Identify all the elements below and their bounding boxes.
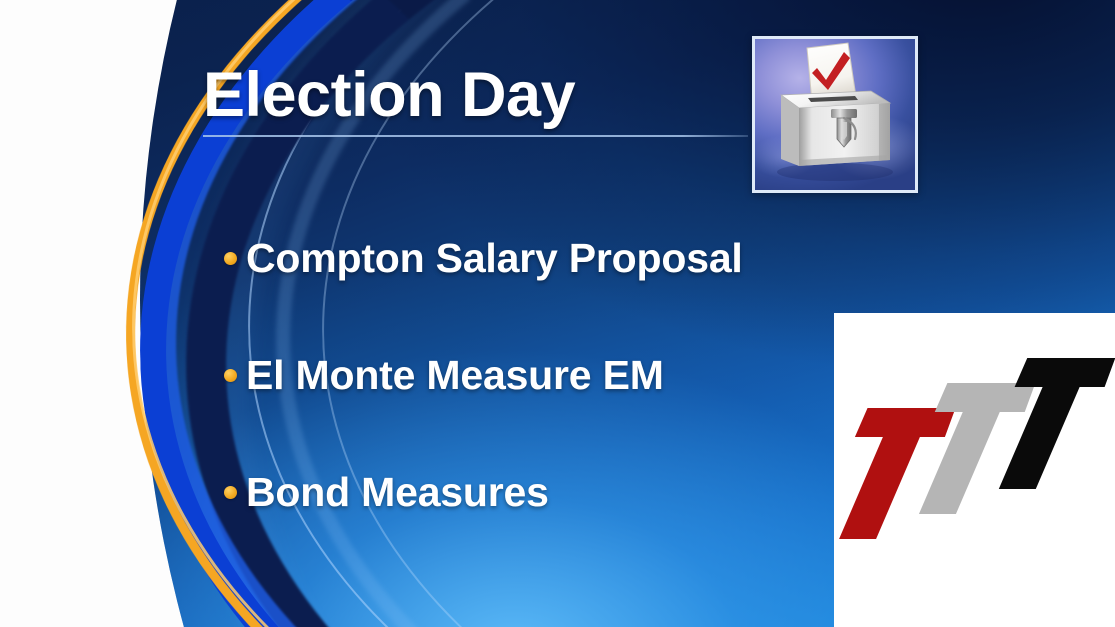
ballot-box-icon-art <box>755 39 915 190</box>
list-item-label: El Monte Measure EM <box>246 352 664 399</box>
station-logo <box>834 313 1115 627</box>
bullet-list: Compton Salary Proposal El Monte Measure… <box>224 200 844 551</box>
list-item-label: Bond Measures <box>246 469 549 516</box>
slide-stage: Election Day Compton Salary Proposal El … <box>0 0 1115 627</box>
list-item: Bond Measures <box>224 434 844 551</box>
list-item: Compton Salary Proposal <box>224 200 844 317</box>
ballot-box-icon <box>752 36 918 193</box>
list-item: El Monte Measure EM <box>224 317 844 434</box>
page-title: Election Day <box>203 62 575 128</box>
list-item-label: Compton Salary Proposal <box>246 235 743 282</box>
station-logo-art <box>834 313 1115 627</box>
bullet-dot-icon <box>224 252 237 265</box>
bullet-dot-icon <box>224 369 237 382</box>
logo-letter-t-black <box>995 358 1115 489</box>
title-underline-rule <box>203 135 748 137</box>
bullet-dot-icon <box>224 486 237 499</box>
